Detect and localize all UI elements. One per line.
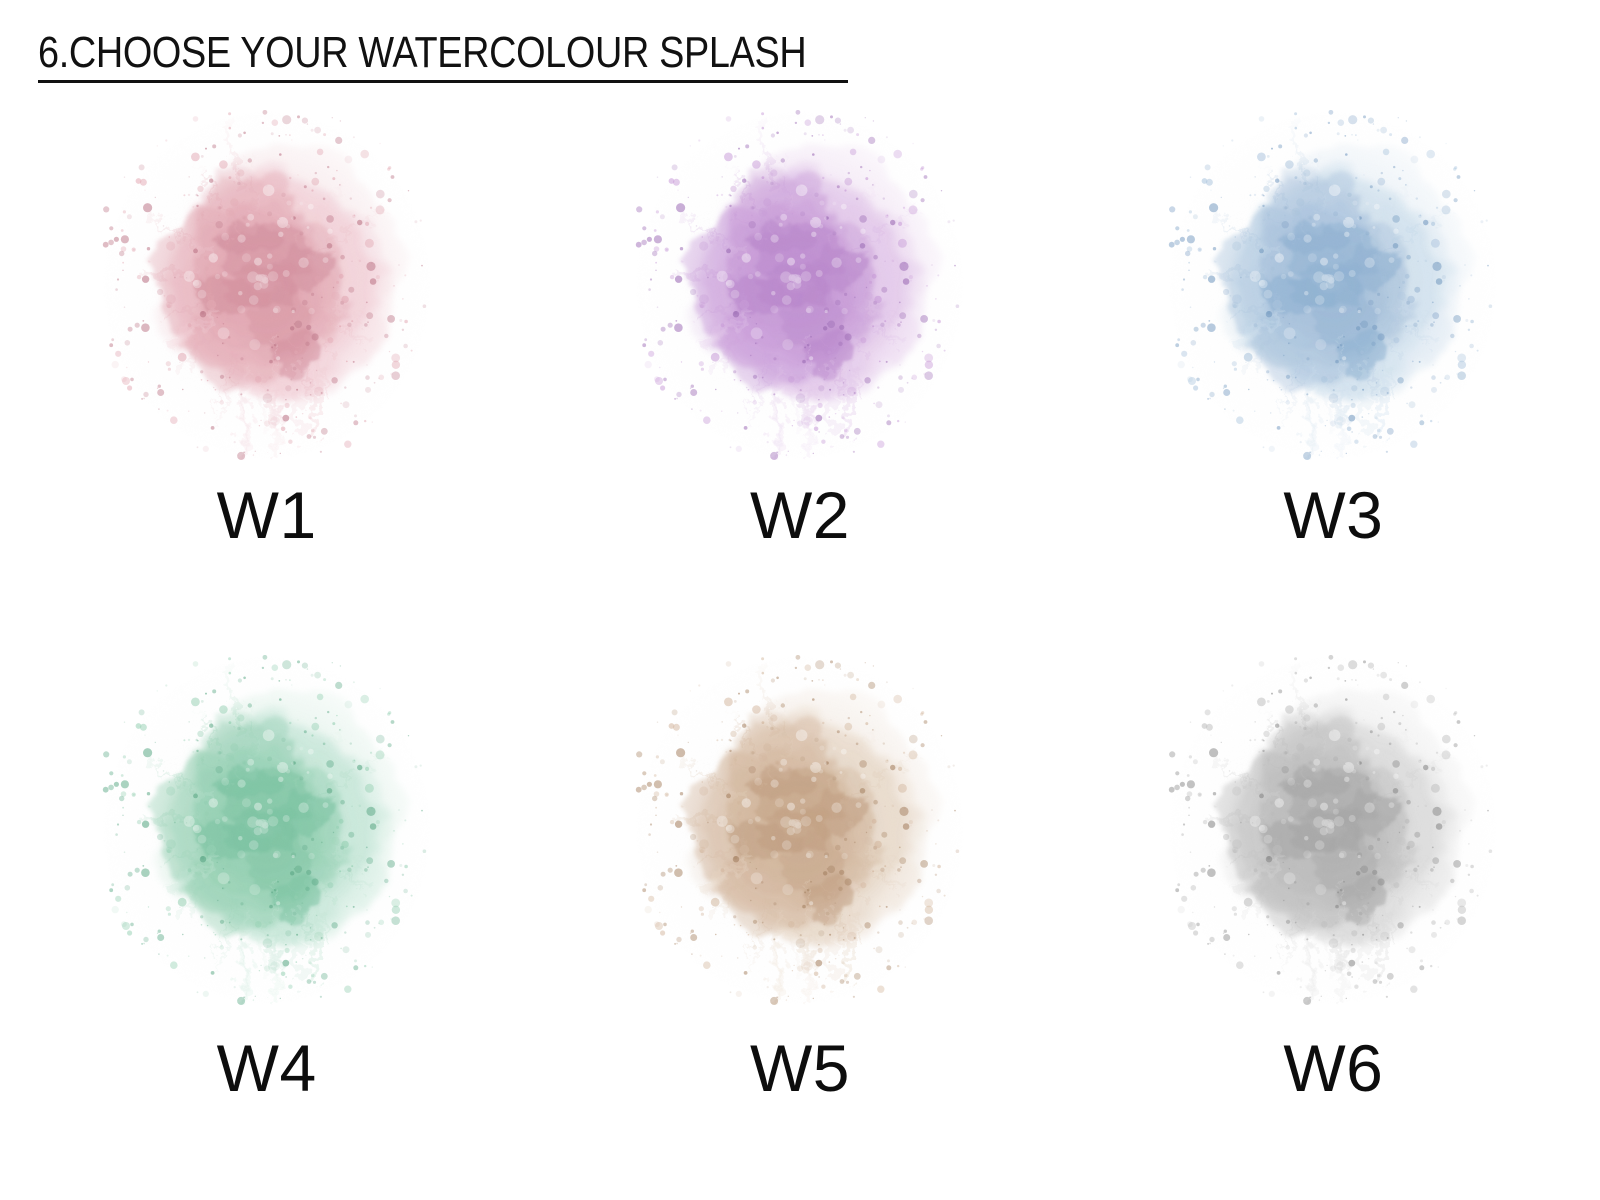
swatch-option-w3[interactable]: W3	[1067, 104, 1600, 649]
swatch-label: W4	[217, 1035, 317, 1101]
watercolour-splash-grid: W1	[0, 104, 1600, 1194]
swatch-option-w4[interactable]: W4	[0, 649, 533, 1194]
watercolour-splash-icon[interactable]	[1168, 655, 1498, 1005]
swatch-label: W5	[750, 1035, 850, 1101]
page-title: 6.CHOOSE YOUR WATERCOLOUR SPLASH	[38, 28, 806, 78]
watercolour-splash-icon[interactable]	[635, 655, 965, 1005]
watercolour-splash-icon[interactable]	[102, 110, 432, 460]
swatch-label: W2	[750, 482, 850, 548]
watercolour-splash-icon[interactable]	[635, 110, 965, 460]
watercolour-splash-icon[interactable]	[1168, 110, 1498, 460]
swatch-option-w1[interactable]: W1	[0, 104, 533, 649]
title-underline	[38, 80, 848, 83]
swatch-label: W3	[1283, 482, 1383, 548]
watercolour-splash-icon[interactable]	[102, 655, 432, 1005]
swatch-label: W1	[217, 482, 317, 548]
swatch-option-w2[interactable]: W2	[533, 104, 1066, 649]
swatch-option-w6[interactable]: W6	[1067, 649, 1600, 1194]
swatch-option-w5[interactable]: W5	[533, 649, 1066, 1194]
swatch-label: W6	[1283, 1035, 1383, 1101]
